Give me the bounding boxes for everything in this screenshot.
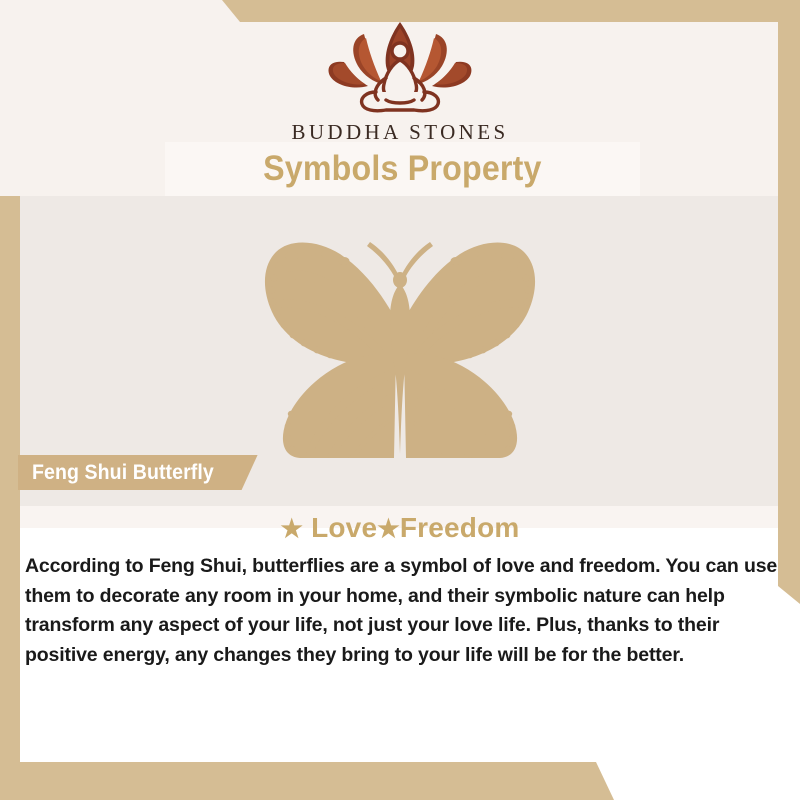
brand-logo: BUDDHA STONES bbox=[0, 18, 800, 145]
gold-bottom-border bbox=[0, 762, 800, 800]
star-icon-left: ★ bbox=[280, 515, 303, 543]
headline-word-love: Love bbox=[311, 512, 377, 543]
product-infographic-page: BUDDHA STONES Symbols Property bbox=[0, 0, 800, 800]
content-paragraph: According to Feng Shui, butterflies are … bbox=[25, 552, 785, 670]
content-headline: ★ Love★Freedom bbox=[0, 512, 800, 544]
butterfly-icon bbox=[218, 228, 582, 458]
star-icon-middle: ★ bbox=[377, 515, 400, 543]
gold-left-border bbox=[0, 196, 20, 780]
page-title: Symbols Property bbox=[263, 149, 542, 189]
headline-word-freedom: Freedom bbox=[400, 512, 520, 543]
page-title-bar: Symbols Property bbox=[165, 142, 640, 196]
hero-label-text: Feng Shui Butterfly bbox=[32, 461, 214, 485]
lotus-meditation-figure-icon bbox=[300, 18, 500, 118]
hero-label-banner: Feng Shui Butterfly bbox=[18, 455, 258, 490]
